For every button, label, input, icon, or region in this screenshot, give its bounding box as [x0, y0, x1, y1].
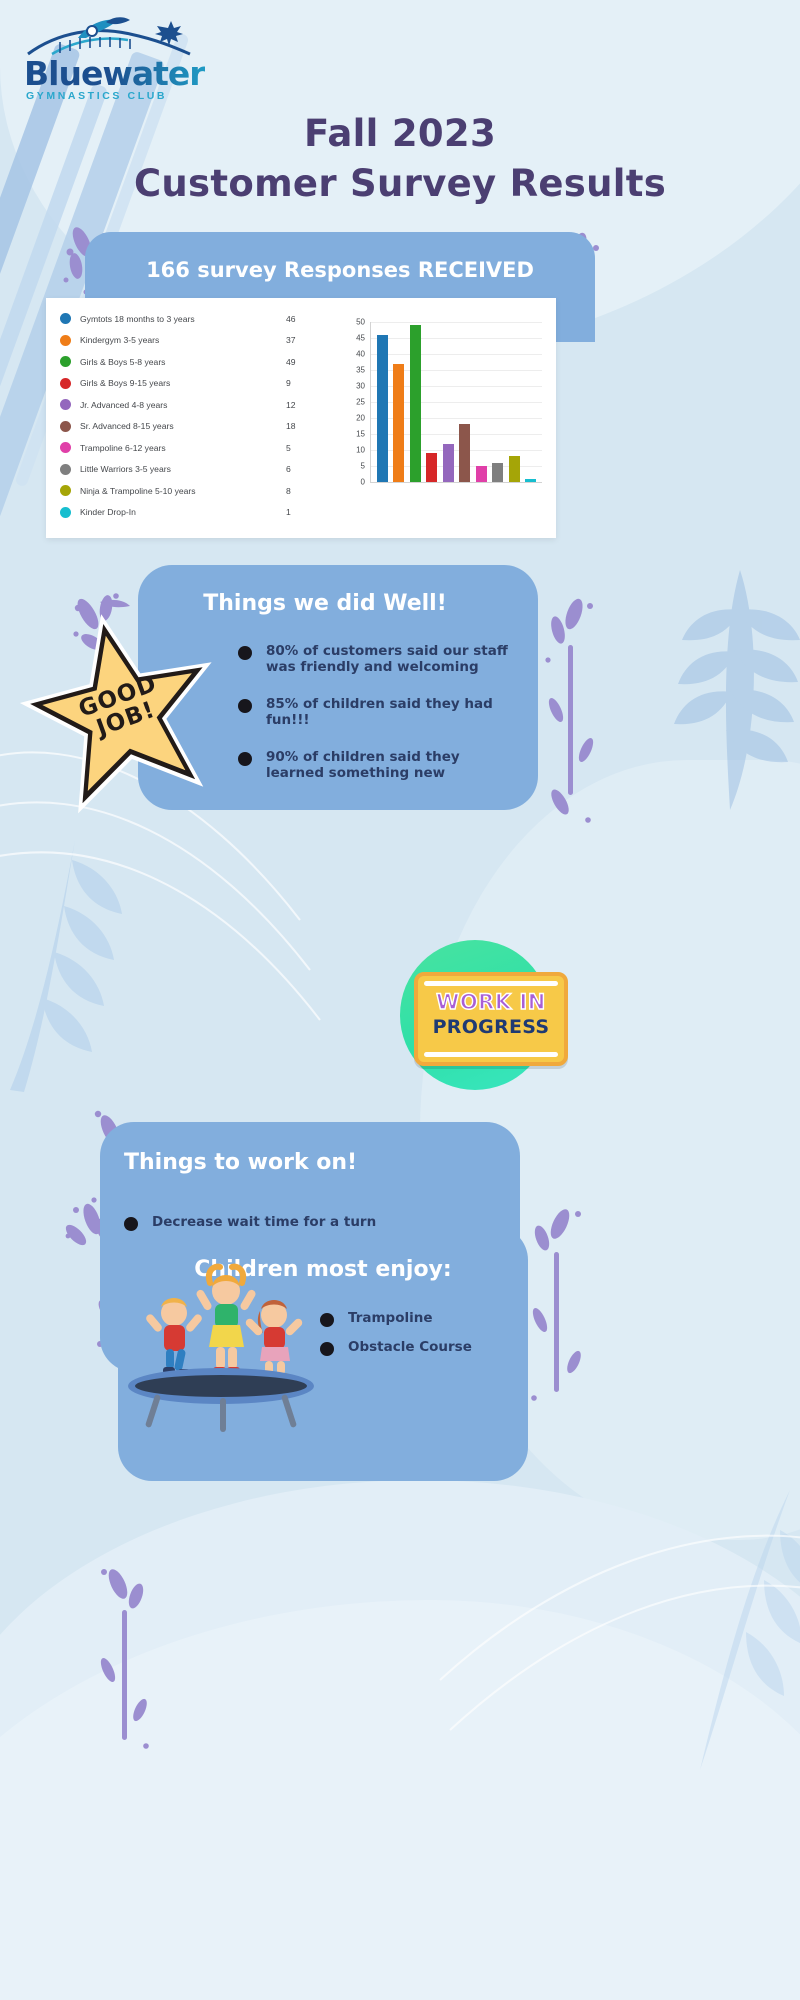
section-well-bullets: 80% of customers said our staff was frie…	[238, 643, 508, 802]
legend-swatch	[60, 313, 71, 324]
legend-swatch	[60, 335, 71, 346]
y-axis-tick: 50	[356, 318, 365, 327]
legend-swatch	[60, 442, 71, 453]
y-axis-tick: 15	[356, 430, 365, 439]
trampoline-icon	[128, 1368, 318, 1428]
legend-label: Ninja & Trampoline 5-10 years	[80, 486, 286, 496]
bar	[377, 335, 388, 482]
legend-value: 46	[286, 314, 310, 324]
bar-slot	[374, 322, 391, 482]
trampoline-leg	[145, 1394, 161, 1428]
chart-card: Gymtots 18 months to 3 years46Kindergym …	[46, 298, 556, 538]
bar-slot	[440, 322, 457, 482]
legend-swatch	[60, 507, 71, 518]
plot-area	[370, 322, 542, 483]
list-item: Trampoline	[320, 1310, 520, 1327]
good-job-sticker: GOOD JOB!	[22, 612, 222, 812]
chart-legend: Gymtots 18 months to 3 years46Kindergym …	[60, 308, 310, 523]
bullet-text: Trampoline	[348, 1310, 433, 1326]
bullet-dot-icon	[238, 646, 252, 660]
badge-line-1: WORK IN	[418, 990, 564, 1014]
badge-line-2: PROGRESS	[418, 1016, 564, 1038]
y-axis-tick: 35	[356, 366, 365, 375]
logo-wordmark: Bluewater	[24, 54, 205, 93]
bar-chart: 05101520253035404550	[346, 322, 542, 507]
logo-tagline: GYMNASTICS CLUB	[26, 90, 167, 102]
survey-banner-title: 166 survey Responses RECEIVED	[85, 258, 595, 282]
title-line-2: Customer Survey Results	[0, 162, 800, 206]
wave-lines	[400, 1500, 800, 1820]
legend-swatch	[60, 356, 71, 367]
bar	[525, 479, 536, 482]
list-item: 80% of customers said our staff was frie…	[238, 643, 508, 676]
legend-row: Sr. Advanced 8-15 years18	[60, 416, 310, 438]
legend-value: 37	[286, 335, 310, 345]
legend-swatch	[60, 464, 71, 475]
list-item: 85% of children said they had fun!!!	[238, 696, 508, 729]
y-axis-tick: 10	[356, 446, 365, 455]
y-axis-tick: 25	[356, 398, 365, 407]
legend-label: Trampoline 6-12 years	[80, 443, 286, 453]
bullet-text: Obstacle Course	[348, 1339, 472, 1355]
legend-value: 18	[286, 421, 310, 431]
legend-label: Sr. Advanced 8-15 years	[80, 421, 286, 431]
legend-row: Kindergym 3-5 years37	[60, 330, 310, 352]
leaf-vine-icon	[538, 590, 608, 850]
leaf-vine-icon	[520, 1200, 600, 1440]
legend-label: Girls & Boys 5-8 years	[80, 357, 286, 367]
legend-row: Jr. Advanced 4-8 years12	[60, 394, 310, 416]
bar-series	[371, 322, 542, 482]
legend-label: Kindergym 3-5 years	[80, 335, 286, 345]
legend-value: 49	[286, 357, 310, 367]
page-title: Fall 2023 Customer Survey Results	[0, 112, 800, 205]
bar-slot	[506, 322, 523, 482]
legend-row: Girls & Boys 5-8 years49	[60, 351, 310, 373]
legend-row: Kinder Drop-In1	[60, 502, 310, 524]
bar-slot	[407, 322, 424, 482]
fern-leaf-icon	[660, 560, 800, 820]
legend-row: Girls & Boys 9-15 years9	[60, 373, 310, 395]
bar	[443, 444, 454, 482]
bullet-text: 80% of customers said our staff was frie…	[266, 643, 508, 676]
badge-stripe	[424, 1052, 558, 1057]
bullet-dot-icon	[238, 699, 252, 713]
y-axis-tick: 45	[356, 334, 365, 343]
work-in-progress-badge-icon: WORK IN PROGRESS	[414, 972, 568, 1066]
bar	[410, 325, 421, 482]
legend-value: 9	[286, 378, 310, 388]
legend-swatch	[60, 378, 71, 389]
bullet-text: 90% of children said they learned someth…	[266, 749, 508, 782]
y-axis-tick: 40	[356, 350, 365, 359]
y-axis-tick: 5	[361, 462, 365, 471]
trampoline-leg	[220, 1398, 226, 1432]
y-axis-tick: 20	[356, 414, 365, 423]
legend-label: Kinder Drop-In	[80, 507, 286, 517]
bar	[492, 463, 503, 482]
work-in-progress-badge: WORK IN PROGRESS	[400, 940, 560, 1090]
trampoline-leg	[281, 1394, 297, 1428]
bar-slot	[490, 322, 507, 482]
bullet-dot-icon	[320, 1313, 334, 1327]
bar-slot	[523, 322, 540, 482]
bar	[509, 456, 520, 482]
title-line-1: Fall 2023	[0, 112, 800, 156]
bar	[459, 424, 470, 482]
legend-swatch	[60, 421, 71, 432]
bullet-dot-icon	[238, 752, 252, 766]
legend-value: 5	[286, 443, 310, 453]
badge-stripe	[424, 981, 558, 986]
legend-value: 6	[286, 464, 310, 474]
legend-row: Little Warriors 3-5 years6	[60, 459, 310, 481]
y-axis: 05101520253035404550	[346, 322, 368, 482]
legend-value: 8	[286, 486, 310, 496]
bar	[393, 364, 404, 482]
legend-label: Jr. Advanced 4-8 years	[80, 400, 286, 410]
bullet-text: 85% of children said they had fun!!!	[266, 696, 508, 729]
bar	[476, 466, 487, 482]
legend-label: Girls & Boys 9-15 years	[80, 378, 286, 388]
legend-swatch	[60, 399, 71, 410]
section-work-title: Things to work on!	[124, 1150, 357, 1175]
bar-slot	[424, 322, 441, 482]
bullet-dot-icon	[320, 1342, 334, 1356]
list-item: Obstacle Course	[320, 1339, 520, 1356]
list-item: 90% of children said they learned someth…	[238, 749, 508, 782]
legend-value: 1	[286, 507, 310, 517]
bar-slot	[473, 322, 490, 482]
legend-value: 12	[286, 400, 310, 410]
leaf-vine-icon	[92, 1560, 162, 1770]
legend-row: Gymtots 18 months to 3 years46	[60, 308, 310, 330]
bar-slot	[457, 322, 474, 482]
y-axis-tick: 0	[361, 478, 365, 487]
bar-slot	[391, 322, 408, 482]
legend-label: Little Warriors 3-5 years	[80, 464, 286, 474]
y-axis-tick: 30	[356, 382, 365, 391]
bar	[426, 453, 437, 482]
brand-logo: Bluewater GYMNASTICS CLUB	[18, 14, 208, 110]
legend-label: Gymtots 18 months to 3 years	[80, 314, 286, 324]
legend-row: Ninja & Trampoline 5-10 years8	[60, 480, 310, 502]
legend-swatch	[60, 485, 71, 496]
legend-row: Trampoline 6-12 years5	[60, 437, 310, 459]
section-enjoy-bullets: TrampolineObstacle Course	[320, 1310, 520, 1368]
